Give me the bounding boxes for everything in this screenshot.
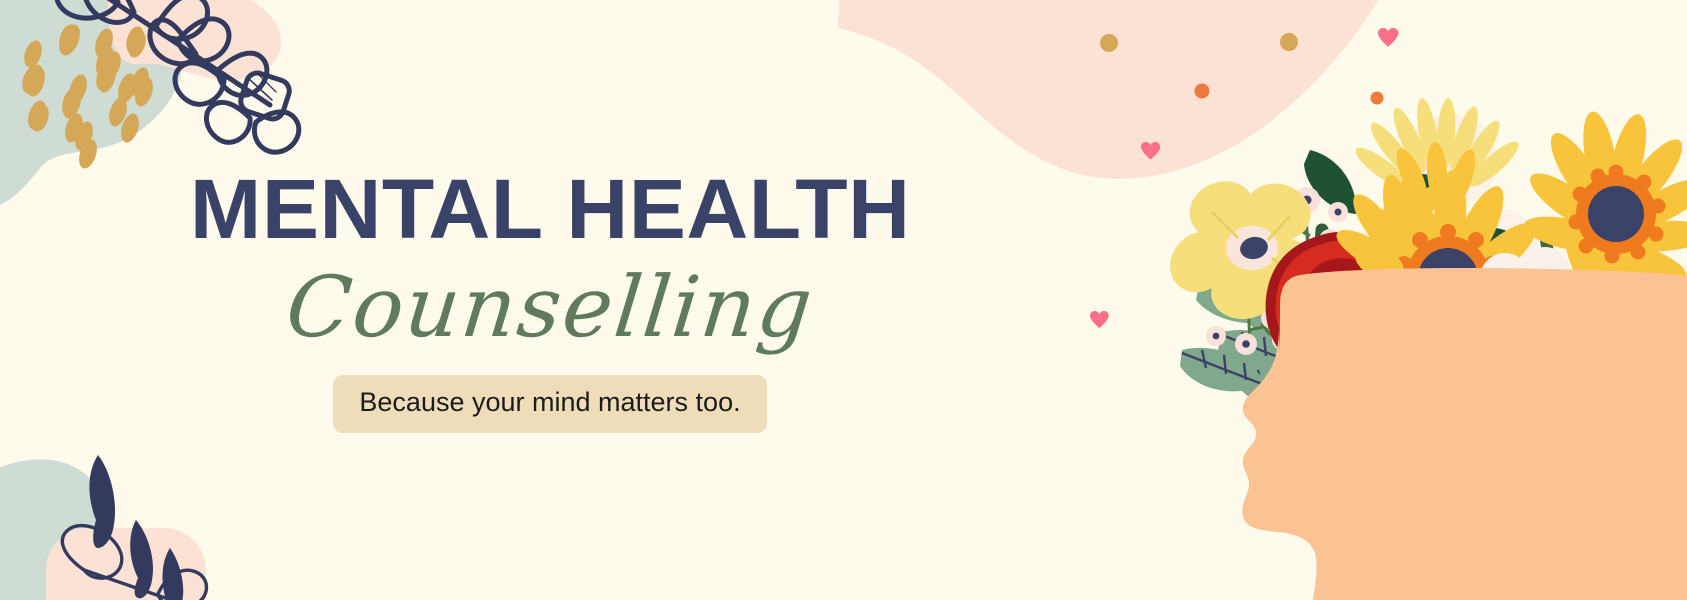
headline-text-block: MENTAL HEALTH Counselling Because your m… bbox=[0, 0, 1100, 600]
sunflower-center bbox=[1588, 186, 1644, 242]
tagline-text: Because your mind matters too. bbox=[359, 387, 740, 417]
page-title: MENTAL HEALTH bbox=[190, 167, 911, 251]
mental-health-banner: MENTAL HEALTH Counselling Because your m… bbox=[0, 0, 1687, 600]
subtitle-script: Counselling bbox=[282, 263, 818, 351]
tagline-badge: Because your mind matters too. bbox=[333, 375, 766, 433]
